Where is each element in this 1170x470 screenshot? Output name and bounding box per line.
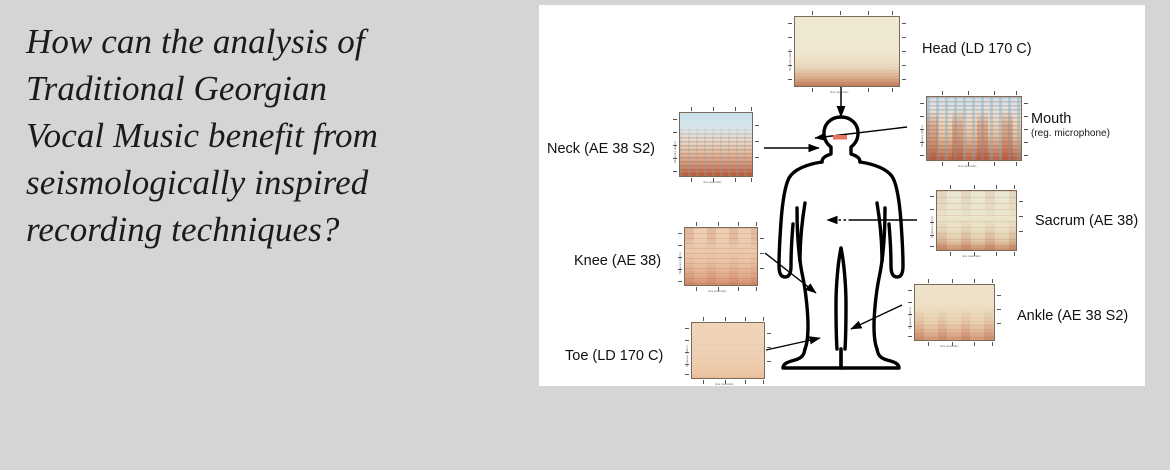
spectrogram-knee-bands: [685, 228, 757, 285]
slide-question: How can the analysis of Traditional Geor…: [26, 18, 506, 253]
spectrogram-toe-xlabel: time (seconds): [715, 383, 733, 386]
spectrogram-knee-plot: [684, 227, 758, 286]
spectrogram-head-ylabel: frequency (Hertz): [789, 49, 792, 71]
spectrogram-sacrum-xlabel: time (seconds): [962, 255, 980, 258]
figure-panel: frequency (Hertz) time (seconds) Head (L…: [539, 5, 1145, 386]
spectrogram-neck-texture: [680, 113, 752, 176]
spectrogram-ankle: frequency (Hertz) time (seconds): [902, 277, 1007, 353]
spectrogram-toe-texture: [692, 323, 764, 378]
spectrogram-sacrum-bands: [937, 191, 1016, 250]
spectrogram-head-plot: [794, 16, 900, 87]
spectrogram-mouth-plot: [926, 96, 1022, 161]
figure-inner: frequency (Hertz) time (seconds) Head (L…: [539, 5, 1145, 386]
spectrogram-sacrum-plot: [936, 190, 1017, 251]
spectrogram-neck-ylabel: frequency (Hertz): [674, 141, 677, 163]
mouth-marker: [833, 135, 847, 140]
sensor-label-toe: Toe (LD 170 C): [565, 348, 663, 364]
spectrogram-toe-ylabel: frequency (Hertz): [686, 345, 689, 367]
sensor-label-neck: Neck (AE 38 S2): [547, 141, 655, 157]
spectrogram-ankle-ylabel: frequency (Hertz): [909, 307, 912, 329]
sensor-label-knee: Knee (AE 38): [574, 253, 661, 269]
sensor-label-head: Head (LD 170 C): [922, 41, 1032, 57]
spectrogram-mouth-bands: [927, 97, 1021, 160]
question-line-5: recording techniques?: [26, 206, 506, 253]
spectrogram-head-xlabel: time (seconds): [830, 91, 848, 94]
question-line-3: Vocal Music benefit from: [26, 112, 506, 159]
spectrogram-toe: frequency (Hertz) time (seconds): [679, 315, 777, 391]
spectrogram-neck-plot: [679, 112, 753, 177]
question-line-2: Traditional Georgian: [26, 65, 506, 112]
sensor-label-mouth-title: Mouth: [1031, 111, 1071, 127]
spectrogram-knee-xlabel: time (seconds): [708, 290, 726, 293]
spectrogram-mouth: frequency (Hertz) time (seconds): [914, 89, 1034, 173]
sensor-label-sacrum: Sacrum (AE 38): [1035, 213, 1138, 229]
spectrogram-sacrum-ylabel: frequency (Hertz): [931, 216, 934, 238]
spectrogram-knee: frequency (Hertz) time (seconds): [672, 220, 770, 298]
sensor-label-mouth: Mouth (reg. microphone): [1031, 111, 1110, 139]
sensor-label-mouth-sub: (reg. microphone): [1031, 128, 1110, 139]
spectrogram-knee-ylabel: frequency (Hertz): [679, 252, 682, 274]
spectrogram-head-texture: [795, 17, 899, 86]
spectrogram-neck-xlabel: time (seconds): [703, 181, 721, 184]
spectrogram-toe-plot: [691, 322, 765, 379]
question-line-1: How can the analysis of: [26, 18, 506, 65]
spectrogram-ankle-xlabel: time (seconds): [940, 345, 958, 348]
spectrogram-ankle-plot: [914, 284, 995, 341]
spectrogram-neck: frequency (Hertz) time (seconds): [667, 105, 765, 189]
spectrogram-head: frequency (Hertz) time (seconds): [782, 9, 912, 99]
sensor-label-ankle: Ankle (AE 38 S2): [1017, 308, 1128, 324]
question-line-4: seismologically inspired: [26, 159, 506, 206]
slide: How can the analysis of Traditional Geor…: [0, 0, 1170, 470]
spectrogram-mouth-xlabel: time (seconds): [958, 165, 976, 168]
spectrogram-mouth-ylabel: frequency (Hertz): [921, 125, 924, 147]
spectrogram-ankle-bands: [915, 285, 994, 340]
spectrogram-sacrum: frequency (Hertz) time (seconds): [924, 183, 1029, 263]
